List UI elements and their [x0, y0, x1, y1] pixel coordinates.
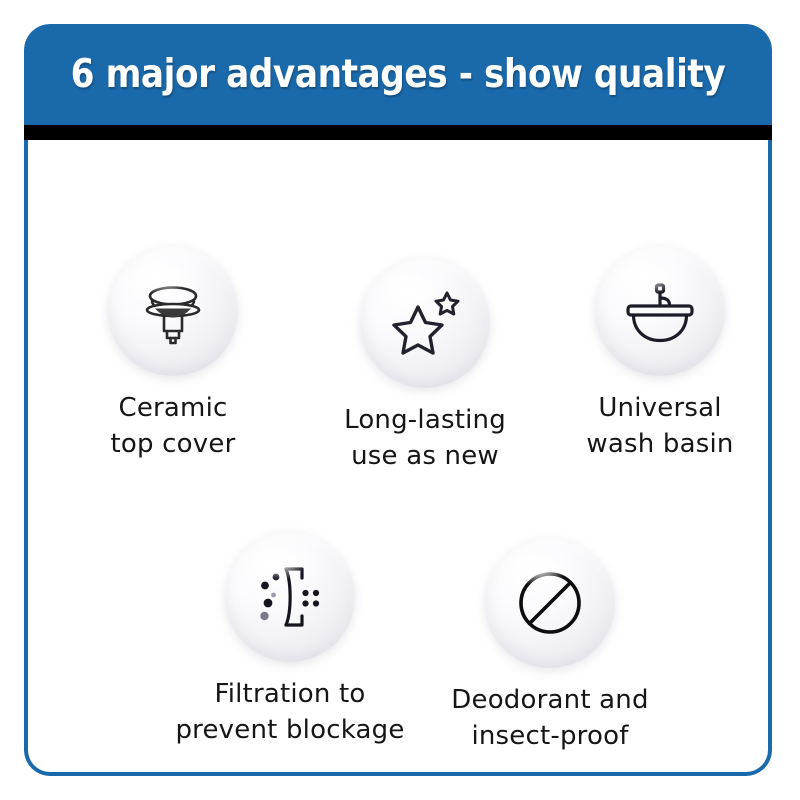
feature-label: Deodorant and insect-proof — [451, 682, 648, 754]
header-divider — [24, 125, 772, 140]
feature-label: Long-lasting use as new — [344, 402, 506, 474]
feature-label: Universal wash basin — [586, 390, 733, 462]
feature-item-ceramic-top-cover: Ceramic top cover — [42, 246, 304, 462]
infographic-card: 6 major advantages - show quality — [24, 24, 772, 776]
feature-item-universal-wash-basin: Universal wash basin — [560, 246, 760, 462]
feature-bubble — [595, 246, 725, 376]
feature-label: Filtration to prevent blockage — [175, 676, 404, 748]
feature-bubble — [360, 258, 490, 388]
header-bar: 6 major advantages - show quality — [24, 24, 772, 125]
feature-bubble — [108, 246, 238, 376]
sparkle-star-icon — [387, 285, 463, 361]
prohibition-sign-icon — [514, 567, 586, 639]
drain-stopper-icon — [136, 274, 210, 348]
feature-bubble — [485, 538, 615, 668]
feature-grid: Ceramic top cover Long-lasting use as ne… — [28, 140, 768, 772]
feature-bubble — [225, 532, 355, 662]
wash-basin-icon — [621, 272, 699, 350]
filter-membrane-icon — [253, 560, 327, 634]
feature-item-filtration: Filtration to prevent blockage — [159, 532, 421, 748]
feature-item-deodorant-insect-proof: Deodorant and insect-proof — [419, 538, 681, 754]
page-title: 6 major advantages - show quality — [71, 55, 726, 94]
feature-label: Ceramic top cover — [111, 390, 236, 462]
feature-item-long-lasting: Long-lasting use as new — [294, 258, 556, 474]
